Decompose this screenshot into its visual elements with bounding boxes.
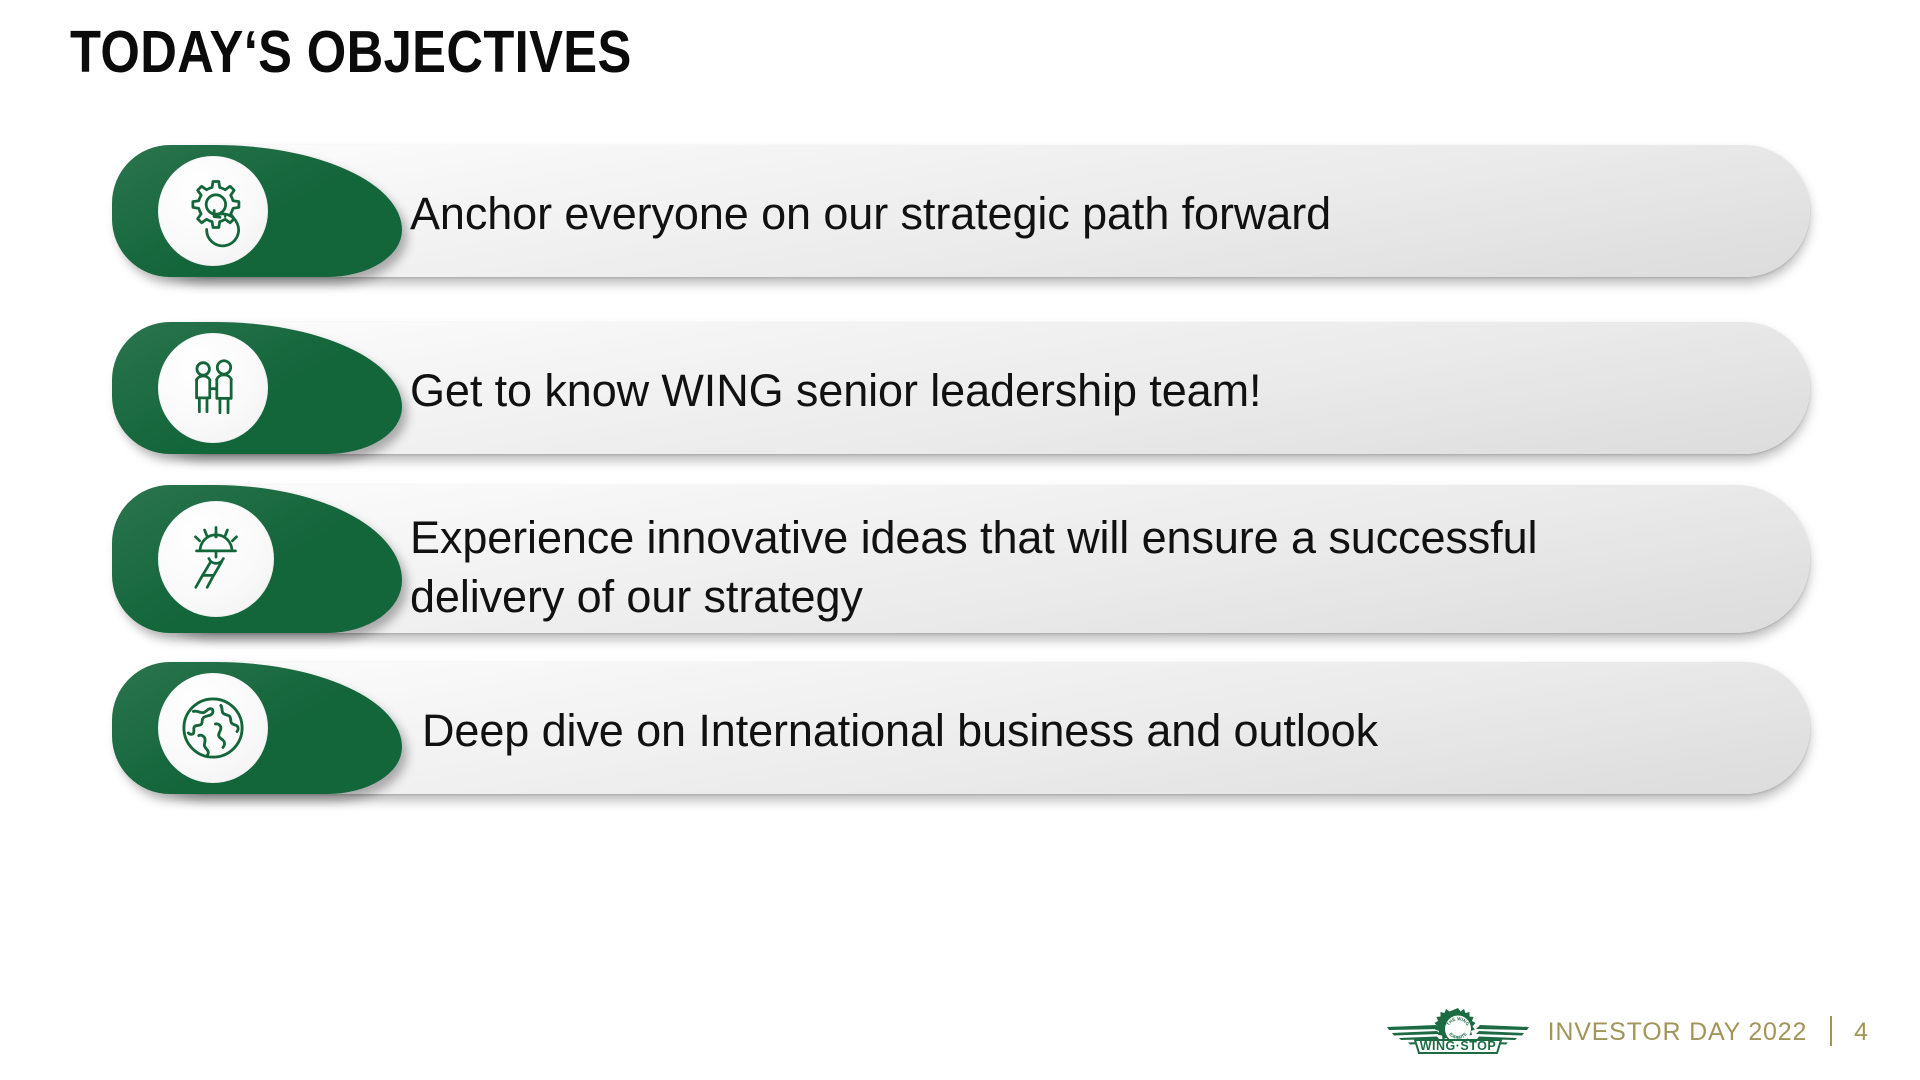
logo-wordmark-text: WING·STOP [1419,1039,1496,1053]
gear-process-icon [158,156,268,266]
page-number: 4 [1854,1018,1868,1046]
objective-text: Anchor everyone on our strategic path fo… [410,185,1740,244]
objective-text: Get to know WING senior leadership team! [410,362,1740,421]
objective-text: Deep dive on International business and … [422,702,1752,761]
footer-label-group: INVESTOR DAY 2022 4 [1548,1016,1868,1047]
footer-divider [1830,1016,1832,1046]
two-people-icon [158,333,268,443]
wingstop-logo: THE WING EXPERTS WING·STOP [1384,1003,1532,1059]
footer: THE WING EXPERTS WING·STOP INVESTOR DAY … [1384,1000,1868,1062]
globe-icon [158,673,268,783]
hand-serving-idea-icon [158,501,274,617]
footer-label: INVESTOR DAY 2022 [1548,1018,1808,1046]
objectives-list: Anchor everyone on our strategic path fo… [0,0,1920,1080]
objective-text: Experience innovative ideas that will en… [410,509,1770,626]
